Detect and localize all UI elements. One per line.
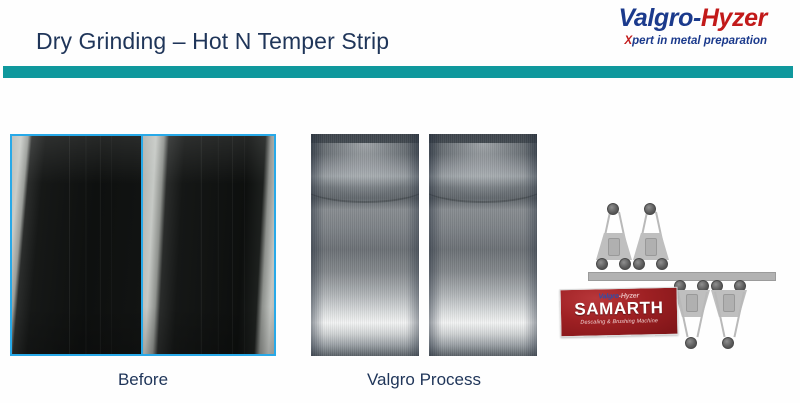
belt-unit-bottom-1-contact-roller <box>685 337 697 349</box>
belt-unit-top-2-lower-roller-a <box>633 258 645 270</box>
caption-before: Before <box>10 370 276 390</box>
valgro-photo-left-edge-shading <box>311 134 419 356</box>
belt-unit-bottom-2 <box>705 280 753 352</box>
belt-unit-bottom-2-contact-roller <box>722 337 734 349</box>
belt-unit-top-1-lower-roller-a <box>596 258 608 270</box>
valgro-photo-right <box>429 134 537 356</box>
before-photo-right-shading <box>143 136 274 354</box>
brand-tagline: Xpert in metal preparation <box>619 36 768 48</box>
title-divider-bar <box>3 66 793 78</box>
belt-unit-top-1-window <box>608 238 620 256</box>
valgro-photo-left <box>311 134 419 356</box>
brand-wordmark-primary: Valgro- <box>619 4 701 32</box>
samarth-product-label: Valgro-Hyzer SAMARTH Descaling & Brushin… <box>560 287 679 337</box>
brand-tagline-rest: pert in metal preparation <box>632 35 767 47</box>
belt-unit-top-2-contact-roller <box>644 203 656 215</box>
before-photo-left <box>10 134 143 356</box>
before-photo-left-shading <box>12 136 141 354</box>
brand-wordmark-secondary: Hyzer <box>701 4 767 32</box>
brand-tagline-initial: X <box>624 35 632 47</box>
belt-unit-top-2-lower-roller-b <box>656 258 668 270</box>
belt-unit-top-2 <box>627 202 675 272</box>
samarth-label-subtitle: Descaling & Brushing Machine <box>561 318 677 327</box>
valgro-photo-right-edge-shading <box>429 134 537 356</box>
samarth-label-name: SAMARTH <box>561 299 677 319</box>
belt-unit-top-2-window <box>645 238 657 256</box>
belt-unit-top-1-contact-roller <box>607 203 619 215</box>
caption-valgro-process: Valgro Process <box>311 370 537 390</box>
before-photo-right <box>141 134 276 356</box>
belt-unit-bottom-1-window <box>686 294 698 312</box>
brand-wordmark: Valgro-Hyzer <box>619 6 768 31</box>
page-title: Dry Grinding – Hot N Temper Strip <box>36 28 389 55</box>
machine-schematic: Valgro-Hyzer SAMARTH Descaling & Brushin… <box>556 196 794 356</box>
belt-unit-bottom-2-window <box>723 294 735 312</box>
brand-logo: Valgro-Hyzer Xpert in metal preparation <box>619 6 768 48</box>
